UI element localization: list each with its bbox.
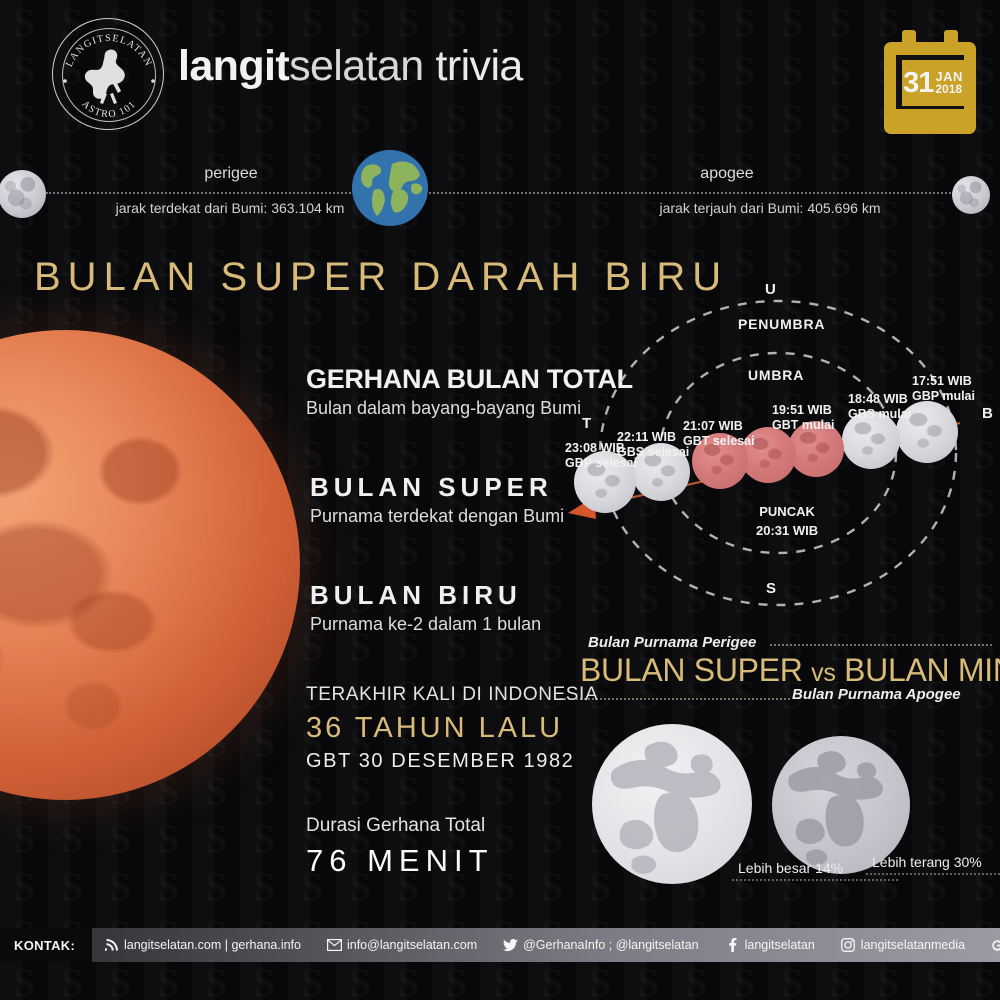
phase-time: 19:51 WIB (772, 403, 832, 417)
duration-value: 76 MENIT (306, 843, 494, 879)
googleplus-icon (991, 938, 1000, 953)
calendar-screen: 31 JAN 2018 (893, 52, 967, 112)
perigee-label: perigee (116, 165, 346, 183)
rss-icon (104, 938, 119, 953)
last-occurrence-stats: TERAKHIR KALI DI INDONESIA 36 TAHUN LALU… (306, 684, 598, 773)
feature-subtitle: Purnama ke-2 dalam 1 bulan (310, 614, 541, 635)
calendar-year: 2018 (935, 83, 963, 96)
feature-bulan-biru: BULAN BIRU Purnama ke-2 dalam 1 bulan (310, 580, 541, 635)
phase-label-gbs-mulai: 18:48 WIB GBS mulai (848, 392, 911, 422)
footer-item-label: langitselatanmedia (861, 938, 965, 952)
compare-title-a: BULAN SUPER (580, 652, 803, 688)
calendar-icon: 31 JAN 2018 (884, 30, 976, 134)
phase-label-gbp-mulai: 17:51 WIB GBP mulai (912, 374, 975, 404)
feature-bulan-super: BULAN SUPER Purnama terdekat dengan Bumi (310, 472, 564, 527)
compare-title-vs: vs (811, 659, 835, 687)
peak-title: PUNCAK (759, 504, 815, 519)
phase-time: 23:08 WIB (565, 441, 625, 455)
mail-icon (327, 938, 342, 953)
brand-title: langitselatantrivia (178, 42, 523, 90)
penumbra-label: PENUMBRA (738, 316, 825, 332)
footer-item-label: info@langitselatan.com (347, 938, 477, 952)
duration-label: Durasi Gerhana Total (306, 815, 494, 837)
header: LANGITSELATAN ASTRO 101 langitselatantri… (0, 0, 1000, 150)
compare-bottom-caption: Bulan Purnama Apogee (792, 686, 961, 703)
supermoon-mare (592, 724, 752, 884)
facebook-icon (725, 938, 740, 953)
footer-item-instagram[interactable]: langitselatanmedia (841, 938, 965, 953)
eclipse-path-diagram: U S T B PENUMBRA UMBRA PUNCAK 20:31 WIB … (560, 275, 1000, 615)
calendar-month-year: JAN 2018 (935, 70, 963, 96)
phase-event: GBP mulai (912, 389, 975, 403)
contact-footer: langitselatan.com | gerhana.info info@la… (0, 928, 1000, 962)
footer-item-facebook[interactable]: langitselatan (725, 938, 815, 953)
size-difference-label: Lebih besar 14% (738, 860, 843, 876)
perigee-distance: jarak terdekat dari Bumi: 363.104 km (60, 200, 400, 216)
phase-time: 21:07 WIB (683, 419, 743, 433)
phase-time: 18:48 WIB (848, 392, 908, 406)
phase-label-gbp-selesai: 23:08 WIB GBP selesai (565, 441, 637, 471)
footer-item-label: @GerhanaInfo ; @langitselatan (523, 938, 698, 952)
phase-time: 17:51 WIB (912, 374, 972, 388)
langitselatan-logo: LANGITSELATAN ASTRO 101 (52, 18, 164, 130)
footer-item-email[interactable]: info@langitselatan.com (327, 938, 477, 953)
infographic-root: SSSSSSSSSSSSSSSSSSSSSSSSSSSSSSSSSSSSSSSS… (0, 0, 1000, 1000)
footer-item-twitter[interactable]: @GerhanaInfo ; @langitselatan (503, 938, 698, 953)
phase-event: GBT mulai (772, 418, 835, 432)
orbit-dotted-line (46, 192, 954, 194)
feature-title: BULAN SUPER (310, 472, 564, 503)
phase-label-gbt-selesai: 21:07 WIB GBT selesai (683, 419, 755, 449)
footer-item-label: langitselatan.com | gerhana.info (124, 938, 301, 952)
blood-moon-image (0, 330, 300, 800)
kontak-label: KONTAK: (0, 928, 92, 962)
phase-event: GBP selesai (565, 456, 637, 470)
duration-block: Durasi Gerhana Total 76 MENIT (306, 815, 494, 879)
brightness-label-dashes (866, 873, 1000, 875)
footer-item-website[interactable]: langitselatan.com | gerhana.info (104, 938, 301, 953)
peak-label: PUNCAK 20:31 WIB (756, 502, 818, 540)
compare-title-b: BULAN MINI (844, 652, 1000, 688)
twitter-icon (503, 938, 518, 953)
horse-rider-emblem-icon (83, 45, 135, 107)
size-label-dashes (732, 879, 898, 881)
cardinal-south-label: S (766, 580, 776, 597)
brightness-difference-label: Lebih terang 30% (872, 854, 982, 870)
peak-time: 20:31 WIB (756, 523, 818, 538)
compare-title: BULAN SUPER vs BULAN MINI (580, 652, 1000, 689)
feature-title: BULAN BIRU (310, 580, 541, 611)
instagram-icon (841, 938, 856, 953)
phase-label-gbt-mulai: 19:51 WIB GBT mulai (772, 403, 835, 433)
supermoon-vs-minimoon-section: Bulan Purnama Perigee BULAN SUPER vs BUL… (560, 632, 1000, 902)
calendar-date-panel: 31 JAN 2018 (902, 60, 964, 106)
perigee-moon-icon (0, 170, 46, 218)
phase-event: GBT selesai (683, 434, 755, 448)
cardinal-north-label: U (765, 281, 776, 298)
phase-event: GBS mulai (848, 407, 911, 421)
apogee-label: apogee (612, 165, 842, 183)
feature-subtitle: Purnama terdekat dengan Bumi (310, 506, 564, 527)
stats-subtext: GBT 30 DESEMBER 1982 (306, 750, 598, 773)
supermoon-disc (592, 724, 752, 884)
brand-suffix: trivia (436, 42, 523, 90)
cardinal-east-label: T (582, 415, 591, 432)
compare-top-caption: Bulan Purnama Perigee (588, 634, 756, 651)
brand-light: selatan (289, 42, 423, 90)
apogee-distance: jarak terjauh dari Bumi: 405.696 km (570, 200, 970, 216)
cardinal-west-label: B (982, 405, 993, 422)
footer-item-label: langitselatan (745, 938, 815, 952)
compare-bottom-dashes (560, 698, 790, 700)
footer-item-googleplus[interactable]: LangitselatanMedia (991, 938, 1000, 953)
calendar-day: 31 (903, 69, 933, 98)
umbra-label: UMBRA (748, 367, 804, 383)
brand-bold: langit (178, 42, 289, 90)
stats-heading: TERAKHIR KALI DI INDONESIA (306, 684, 598, 706)
compare-top-dashes (770, 644, 992, 646)
stats-highlight: 36 TAHUN LALU (306, 712, 598, 745)
